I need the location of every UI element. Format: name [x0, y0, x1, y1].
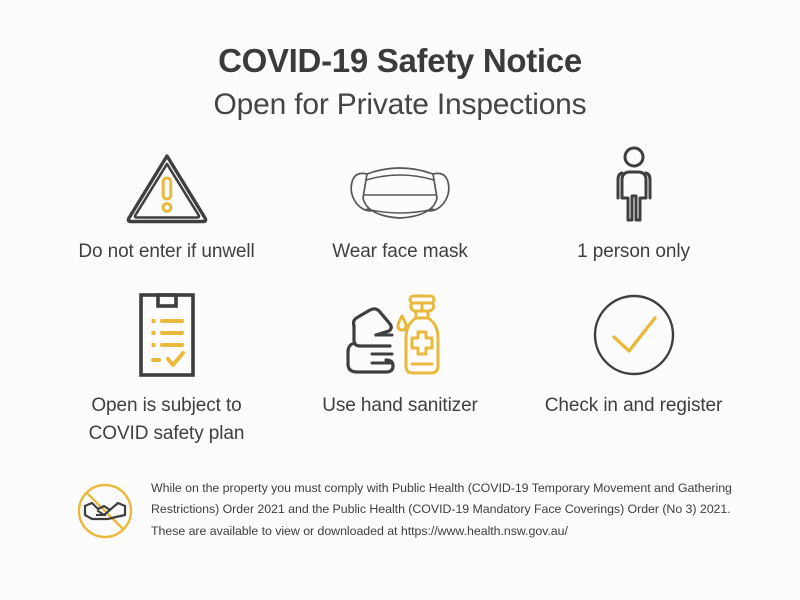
safety-items-row-2: Open is subject to COVID safety plan [50, 300, 750, 450]
covid-safety-notice-poster: COVID-19 Safety Notice Open for Private … [0, 0, 800, 600]
safety-items-grid: Do not enter if unwell Wear face mask [50, 146, 750, 450]
face-mask-icon [345, 146, 455, 224]
safety-item-wear-face-mask: Wear face mask [284, 146, 517, 266]
safety-item-do-not-enter: Do not enter if unwell [50, 146, 283, 266]
safety-item-check-in-register: Check in and register [517, 300, 750, 420]
safety-item-label: Wear face mask [332, 238, 468, 266]
safety-item-label: Check in and register [545, 392, 722, 420]
page-subtitle: Open for Private Inspections [214, 90, 587, 120]
safety-item-label: 1 person only [577, 238, 690, 266]
safety-item-use-hand-sanitizer: Use hand sanitizer [284, 300, 517, 420]
safety-item-label: Use hand sanitizer [322, 392, 478, 420]
safety-item-label: Open is subject to COVID safety plan [89, 392, 245, 447]
title-block: COVID-19 Safety Notice Open for Private … [214, 44, 587, 120]
clipboard-checklist-icon [133, 300, 201, 378]
footer: While on the property you must comply wi… [76, 478, 736, 545]
no-handshake-icon [76, 482, 134, 545]
single-person-icon [605, 146, 663, 224]
check-circle-icon [591, 300, 677, 378]
safety-item-covid-safety-plan: Open is subject to COVID safety plan [50, 300, 283, 447]
warning-triangle-icon [125, 146, 209, 224]
footer-disclaimer-text: While on the property you must comply wi… [151, 478, 736, 542]
page-title: COVID-19 Safety Notice [214, 44, 587, 77]
safety-items-row-1: Do not enter if unwell Wear face mask [50, 146, 750, 276]
safety-item-label: Do not enter if unwell [78, 238, 254, 266]
safety-item-one-person-only: 1 person only [517, 146, 750, 266]
hand-sanitizer-icon [346, 300, 454, 378]
